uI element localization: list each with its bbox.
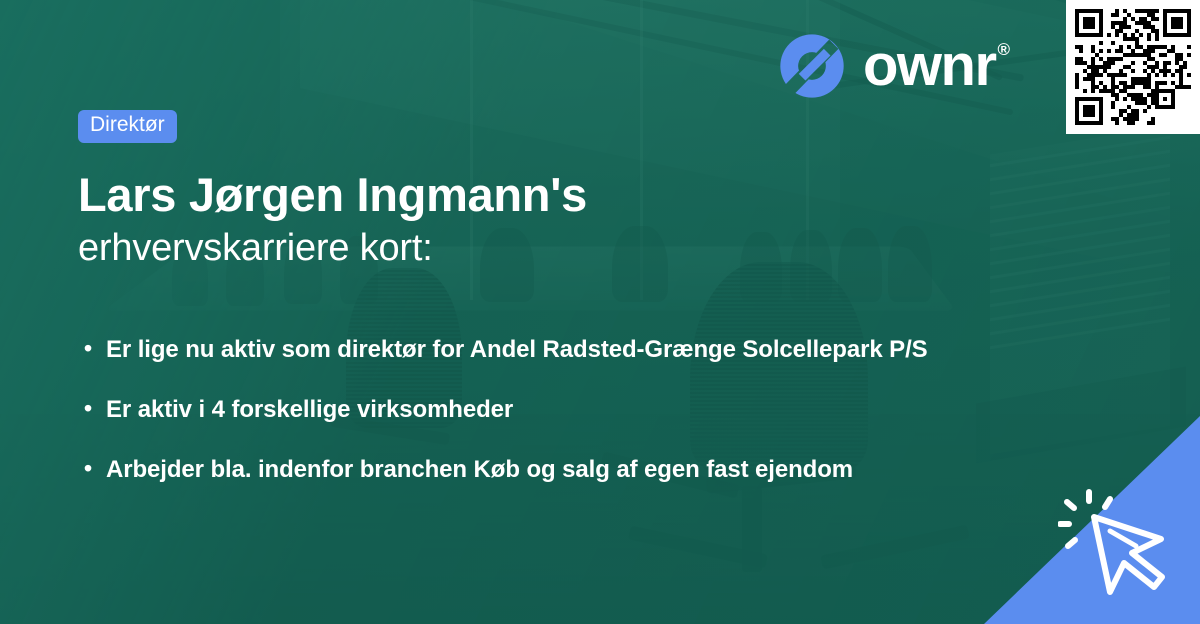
click-cursor-pointer-icon xyxy=(1058,484,1178,600)
fact-list-item: Arbejder bla. indenfor branchen Køb og s… xyxy=(78,453,1013,487)
qr-code-matrix xyxy=(1075,9,1191,125)
role-badge: Direktør xyxy=(78,110,177,143)
fact-list-item: Er lige nu aktiv som direktør for Andel … xyxy=(78,333,1013,367)
fact-list-item: Er aktiv i 4 forskellige virksomheder xyxy=(78,393,1013,427)
ownr-logo[interactable]: ownr ® xyxy=(779,33,1009,99)
page-title: Lars Jørgen Ingmann's xyxy=(78,169,1080,222)
promo-card: ownr ® Direktør Lars Jørgen Ingmann's er… xyxy=(0,0,1200,624)
ownr-wordmark: ownr ® xyxy=(863,37,1009,95)
registered-trademark-icon: ® xyxy=(998,41,1009,58)
page-subtitle: erhvervskarriere kort: xyxy=(78,227,1080,271)
qr-code[interactable] xyxy=(1066,0,1200,134)
ownr-circle-swoosh-logo-icon xyxy=(779,33,845,99)
fact-list: Er lige nu aktiv som direktør for Andel … xyxy=(78,333,1080,487)
ownr-wordmark-text: ownr xyxy=(863,37,996,95)
card-content: Direktør Lars Jørgen Ingmann's erhvervsk… xyxy=(78,110,1080,513)
